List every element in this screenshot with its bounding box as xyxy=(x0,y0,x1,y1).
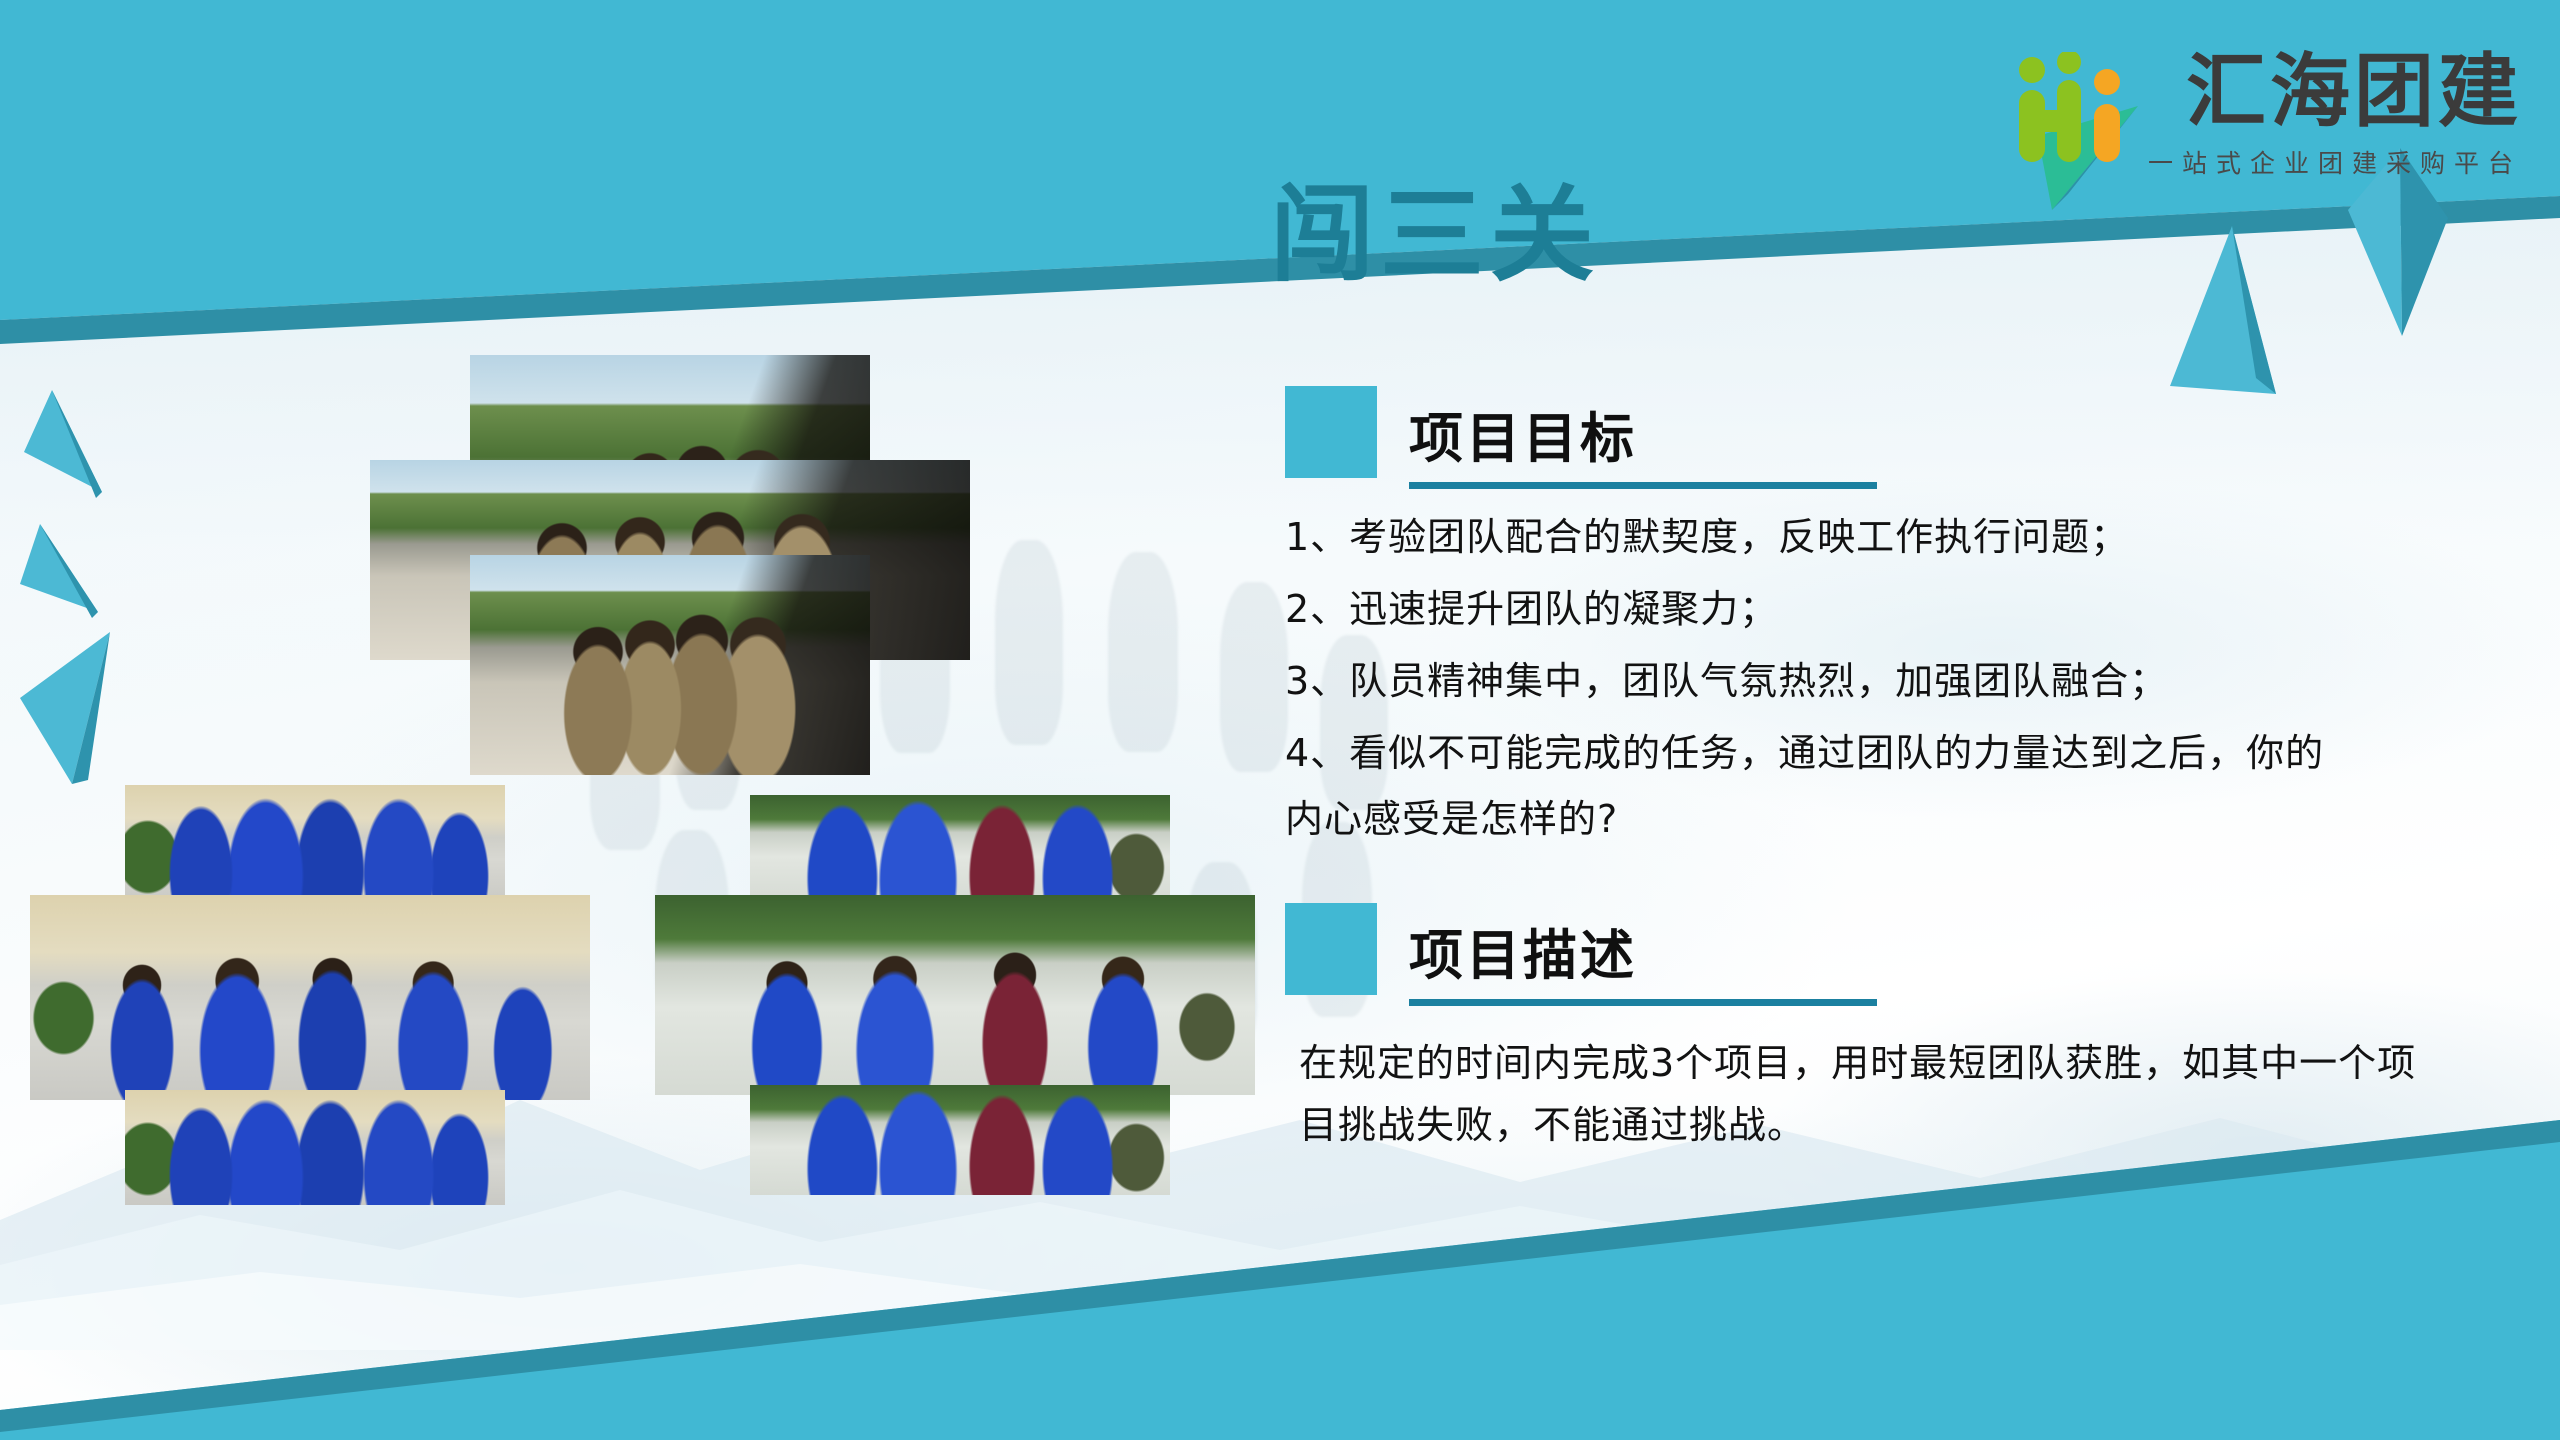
photo-tile-middle xyxy=(655,895,1255,1095)
logo-tagline: 一站式企业团建采购平台 xyxy=(2148,144,2522,180)
photo-tile-top xyxy=(750,795,1170,905)
section-marker-square xyxy=(1285,386,1377,478)
page-title: 闯三关 xyxy=(1270,178,1600,292)
logo-brand-name: 汇海团建 xyxy=(2186,52,2522,132)
goal-item-1: 1、考验团队配合的默契度，反映工作执行问题； xyxy=(1285,518,2465,556)
brand-logo[interactable]: 汇海团建 一站式企业团建采购平台 xyxy=(2010,52,2522,180)
goal-item-3: 3、队员精神集中，团队气氛热烈，加强团队融合； xyxy=(1285,662,2465,700)
slide-root: 汇海团建 一站式企业团建采购平台 闯三关 项目目标 1、考验团队 xyxy=(0,0,2560,1440)
section-description-header: 项目描述 xyxy=(1285,895,2465,1007)
logo-wordmark: 汇海团建 一站式企业团建采购平台 xyxy=(2148,52,2522,180)
section-description-title: 项目描述 xyxy=(1409,911,1637,990)
section-goals-title: 项目目标 xyxy=(1409,394,1637,473)
goal-item-2: 2、迅速提升团队的凝聚力； xyxy=(1285,590,2465,628)
section-description-rule xyxy=(1409,999,1877,1006)
photo-blue-vest-stick-challenge xyxy=(30,785,590,1205)
description-body-text: 在规定的时间内完成3个项目，用时最短团队获胜，如其中一个项目挑战失败，不能通过挑… xyxy=(1299,1033,2419,1156)
photo-tile-bottom xyxy=(125,1090,505,1205)
section-description: 项目描述 在规定的时间内完成3个项目，用时最短团队获胜，如其中一个项目挑战失败，… xyxy=(1285,895,2465,1156)
hi-logo-mark xyxy=(2010,52,2134,168)
section-goals-header: 项目目标 xyxy=(1285,378,2465,490)
section-goals-rule xyxy=(1409,482,1877,489)
goals-list: 1、考验团队配合的默契度，反映工作执行问题； 2、迅速提升团队的凝聚力； 3、队… xyxy=(1285,518,2465,772)
section-marker-square xyxy=(1285,903,1377,995)
photo-tile-bottom xyxy=(470,555,870,775)
goal-item-4-continuation: 内心感受是怎样的? xyxy=(1285,788,2465,843)
photo-tile-middle xyxy=(30,895,590,1100)
photo-tile-bottom xyxy=(750,1085,1170,1195)
goal-item-4: 4、看似不可能完成的任务，通过团队的力量达到之后，你的 xyxy=(1285,734,2465,772)
decorative-triangle-left-2 xyxy=(10,512,160,642)
content-column: 项目目标 1、考验团队配合的默契度，反映工作执行问题； 2、迅速提升团队的凝聚力… xyxy=(1285,378,2465,1156)
photo-camouflage-rope-activity xyxy=(370,355,970,775)
decorative-triangle-left-3 xyxy=(10,624,170,794)
photo-team-high-five-celebration xyxy=(655,795,1255,1195)
decorative-triangle-left-1 xyxy=(10,380,160,530)
section-goals: 项目目标 1、考验团队配合的默契度，反映工作执行问题； 2、迅速提升团队的凝聚力… xyxy=(1285,378,2465,843)
photo-tile-top xyxy=(125,785,505,905)
